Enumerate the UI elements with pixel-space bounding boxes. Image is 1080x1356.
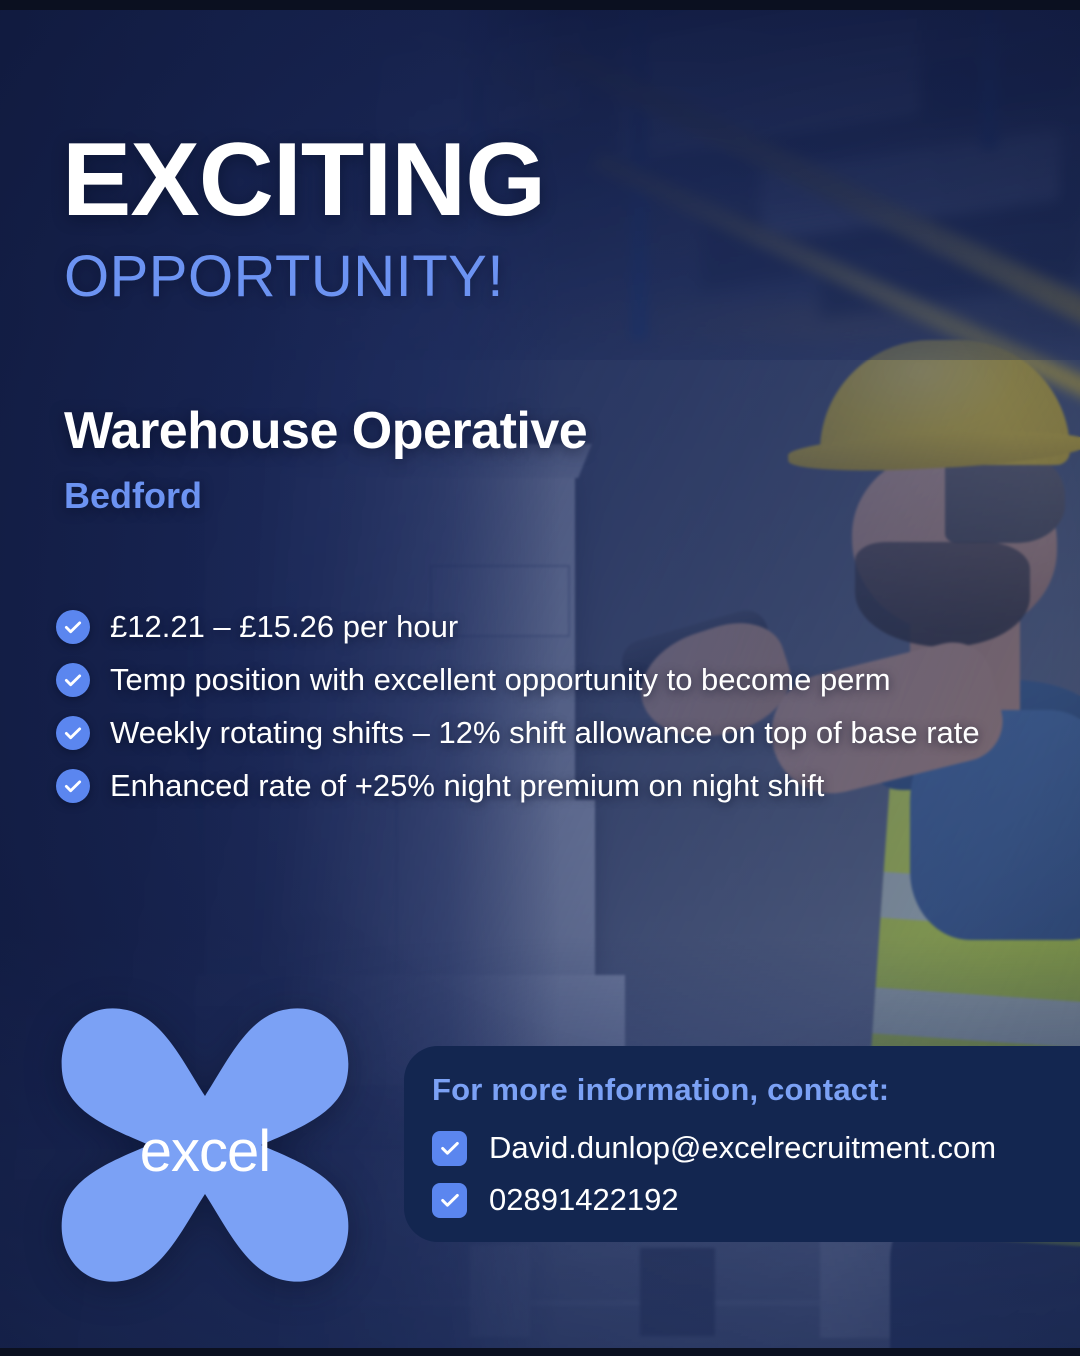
benefit-text: £12.21 – £15.26 per hour: [110, 609, 458, 645]
contact-phone[interactable]: 02891422192: [489, 1182, 679, 1218]
excel-logo: excel: [55, 1000, 355, 1290]
logo-wordmark: excel: [55, 1118, 355, 1185]
benefit-text: Temp position with excellent opportunity…: [110, 662, 891, 698]
benefit-text: Enhanced rate of +25% night premium on n…: [110, 768, 824, 804]
benefit-item: £12.21 – £15.26 per hour: [56, 600, 1056, 653]
check-circle-icon: [56, 663, 90, 697]
benefit-item: Temp position with excellent opportunity…: [56, 653, 1056, 706]
job-advert-poster: EXCITING OPPORTUNITY! Warehouse Operativ…: [0, 0, 1080, 1356]
check-circle-icon: [56, 769, 90, 803]
contact-phone-row[interactable]: 02891422192: [432, 1174, 1080, 1226]
contact-title: For more information, contact:: [432, 1072, 1080, 1108]
check-circle-icon: [56, 610, 90, 644]
benefit-item: Weekly rotating shifts – 12% shift allow…: [56, 706, 1056, 759]
subheadline: OPPORTUNITY!: [64, 248, 504, 306]
contact-email-row[interactable]: David.dunlop@excelrecruitment.com: [432, 1122, 1080, 1174]
job-location: Bedford: [64, 478, 202, 514]
check-square-icon: [432, 1183, 467, 1218]
check-circle-icon: [56, 716, 90, 750]
headline: EXCITING: [62, 133, 545, 229]
benefits-list: £12.21 – £15.26 per hour Temp position w…: [56, 600, 1056, 812]
poster-content: EXCITING OPPORTUNITY! Warehouse Operativ…: [0, 0, 1080, 1356]
check-square-icon: [432, 1131, 467, 1166]
benefit-text: Weekly rotating shifts – 12% shift allow…: [110, 715, 980, 751]
contact-panel: For more information, contact: David.dun…: [404, 1046, 1080, 1242]
benefit-item: Enhanced rate of +25% night premium on n…: [56, 759, 1056, 812]
contact-email[interactable]: David.dunlop@excelrecruitment.com: [489, 1130, 996, 1166]
job-title: Warehouse Operative: [64, 404, 587, 459]
